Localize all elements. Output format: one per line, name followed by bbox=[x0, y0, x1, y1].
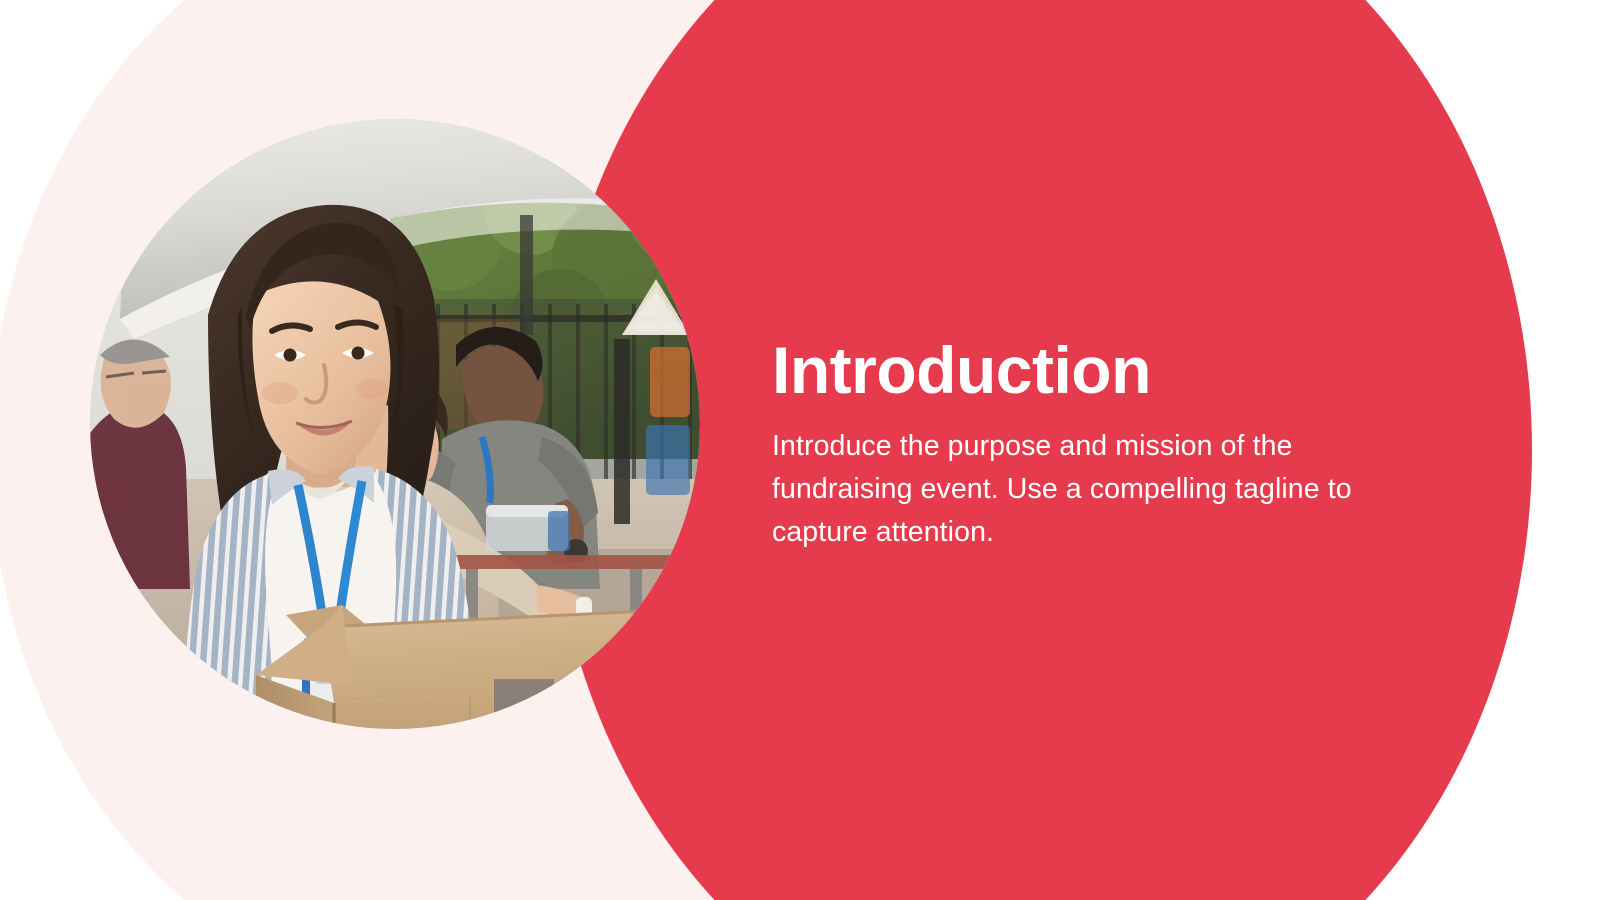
page-title: Introduction bbox=[772, 336, 1372, 405]
slide-body-text: Introduce the purpose and mission of the… bbox=[772, 405, 1362, 554]
volunteer-photo bbox=[90, 119, 700, 729]
presentation-slide: Introduction Introduce the purpose and m… bbox=[0, 0, 1600, 900]
text-block: Introduction Introduce the purpose and m… bbox=[772, 336, 1372, 554]
